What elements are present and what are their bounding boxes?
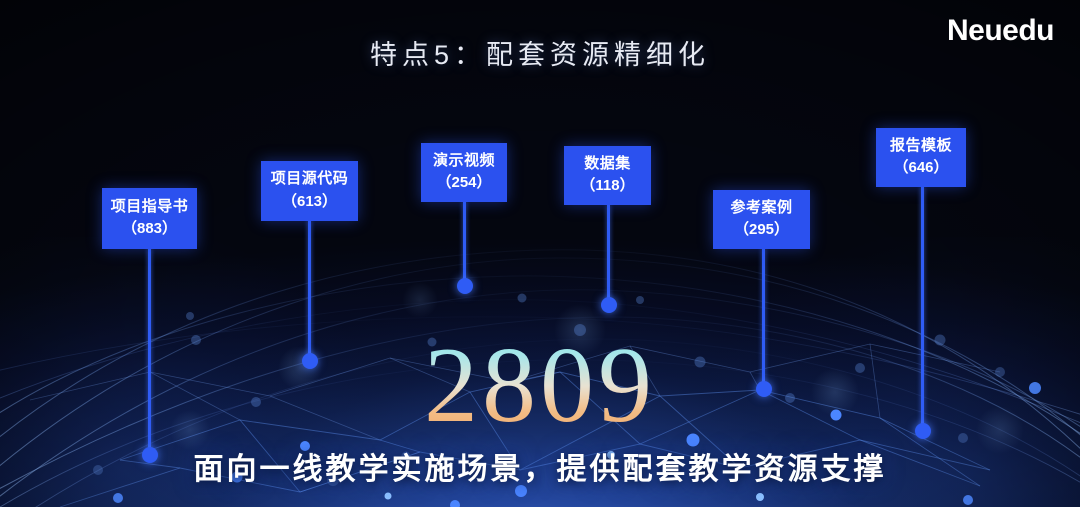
connector-line-3 [463,201,466,287]
resource-card-count: （118） [580,176,634,196]
resource-card-2[interactable]: 项目源代码 （613） [261,161,358,221]
resource-card-3[interactable]: 演示视频 （254） [421,143,507,202]
page-title: 特点5：配套资源精细化 [0,33,1080,72]
resource-card-label: 报告模板 [890,137,952,156]
connector-end-dot-3 [457,278,473,294]
slide-canvas: Neuedu 特点5：配套资源精细化 项目指导书 （883） 项目源代码 （61… [0,0,1080,507]
resource-card-6[interactable]: 报告模板 （646） [876,128,966,187]
resource-card-label: 项目指导书 [111,198,189,217]
resource-card-label: 演示视频 [433,152,495,171]
connector-line-4 [607,205,610,306]
resource-card-label: 数据集 [584,155,631,174]
connector-end-dot-4 [601,297,617,313]
resource-card-count: （254） [436,173,491,193]
summary-caption: 面向一线教学实施场景，提供配套教学资源支撑 [0,444,1080,488]
resource-card-count: （646） [893,158,948,178]
resource-card-label: 参考案例 [730,199,792,218]
resource-card-5[interactable]: 参考案例 （295） [713,190,810,249]
resource-card-count: （613） [282,192,337,212]
resource-card-count: （883） [122,219,177,239]
resource-card-4[interactable]: 数据集 （118） [564,146,651,205]
resource-card-label: 项目源代码 [271,170,349,189]
resource-card-count: （295） [734,220,789,240]
total-count: 2809 [0,332,1080,440]
resource-card-1[interactable]: 项目指导书 （883） [102,188,197,249]
